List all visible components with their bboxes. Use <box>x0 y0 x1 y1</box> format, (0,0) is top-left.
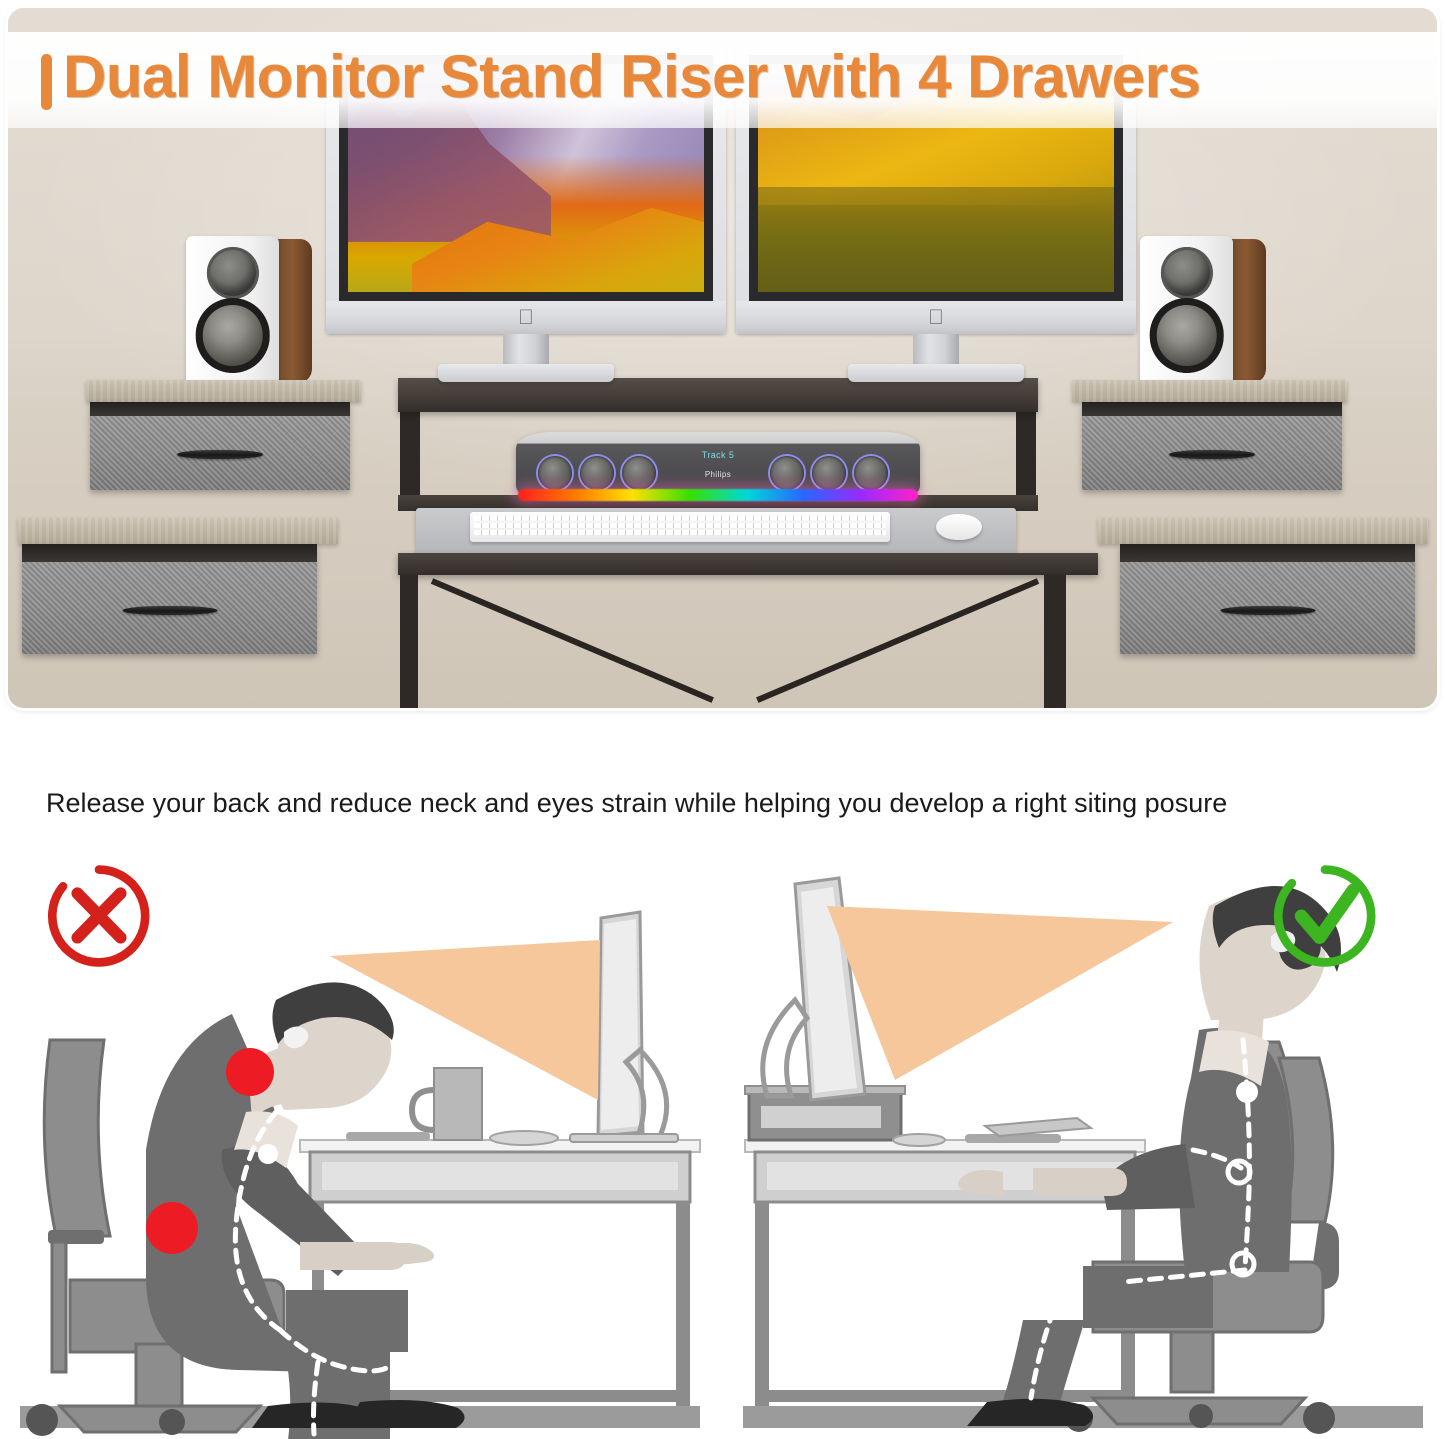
monitor-chin:  <box>326 301 726 334</box>
tweeter-driver-icon <box>1161 247 1213 299</box>
monitor-foot <box>848 364 1024 382</box>
keyboard-row <box>474 523 886 528</box>
riser-leg-left <box>400 412 420 502</box>
speaker-front-baffle <box>1140 236 1233 386</box>
drawer-top-left[interactable] <box>90 402 350 490</box>
tweeter-driver-icon <box>207 247 259 299</box>
monitor-neck <box>913 334 959 368</box>
keyboard-row <box>474 516 886 521</box>
red-x-icon <box>45 862 153 970</box>
drawer-top-right[interactable] <box>1082 402 1342 490</box>
desk-leg-right <box>1044 575 1066 708</box>
drawer-bottom-right[interactable] <box>1120 544 1415 654</box>
drawer-handle-icon[interactable] <box>177 450 263 459</box>
bad-posture-panel <box>0 850 722 1439</box>
drawer-handle-icon[interactable] <box>122 606 217 615</box>
monitor-foot <box>438 364 614 382</box>
page-title: Dual Monitor Stand Riser with 4 Drawers <box>63 42 1417 111</box>
drawer-inner-lip <box>1120 544 1415 562</box>
drawer-inner-lip <box>1082 402 1342 416</box>
soundbar-rgb-light-strip <box>518 489 918 501</box>
drawer-handle-icon[interactable] <box>1169 450 1255 459</box>
mouse <box>936 514 982 540</box>
hero-photo-panel: Track 5 Philips   <box>8 8 1437 708</box>
drawer-bottom-left[interactable] <box>22 544 317 654</box>
ergonomics-caption: Release your back and reduce neck and ey… <box>46 788 1406 819</box>
keyboard-row <box>474 530 886 535</box>
woofer-driver-icon <box>195 298 270 373</box>
keyboard <box>470 512 890 542</box>
shelf-bottom-left <box>18 518 338 544</box>
shelf-bottom-right <box>1098 518 1428 544</box>
drawer-inner-lip <box>22 544 317 562</box>
apple-logo-icon:  <box>928 307 944 328</box>
riser-leg-right <box>1016 412 1036 502</box>
title-accent-bar <box>41 54 52 110</box>
pain-point-lower-back <box>146 1202 198 1254</box>
woofer-driver-icon <box>1149 298 1224 373</box>
monitor-neck <box>503 334 549 368</box>
posture-comparison <box>0 850 1445 1439</box>
apple-logo-icon:  <box>518 307 534 328</box>
green-check-icon <box>1271 862 1379 970</box>
soundbar-brand-text: Philips <box>516 470 920 479</box>
pain-point-neck <box>226 1048 274 1096</box>
drawer-handle-icon[interactable] <box>1220 606 1315 615</box>
desk-leg-left <box>400 575 418 708</box>
shelf-top-left <box>86 380 361 402</box>
good-posture-panel <box>723 850 1445 1439</box>
drawer-inner-lip <box>90 402 350 416</box>
soundbar-display-text: Track 5 <box>516 450 920 460</box>
speaker-right <box>1140 236 1266 386</box>
speaker-left <box>186 236 312 386</box>
monitor-chin:  <box>736 301 1136 334</box>
speaker-front-baffle <box>186 236 279 386</box>
desk-top-surface <box>398 553 1098 575</box>
